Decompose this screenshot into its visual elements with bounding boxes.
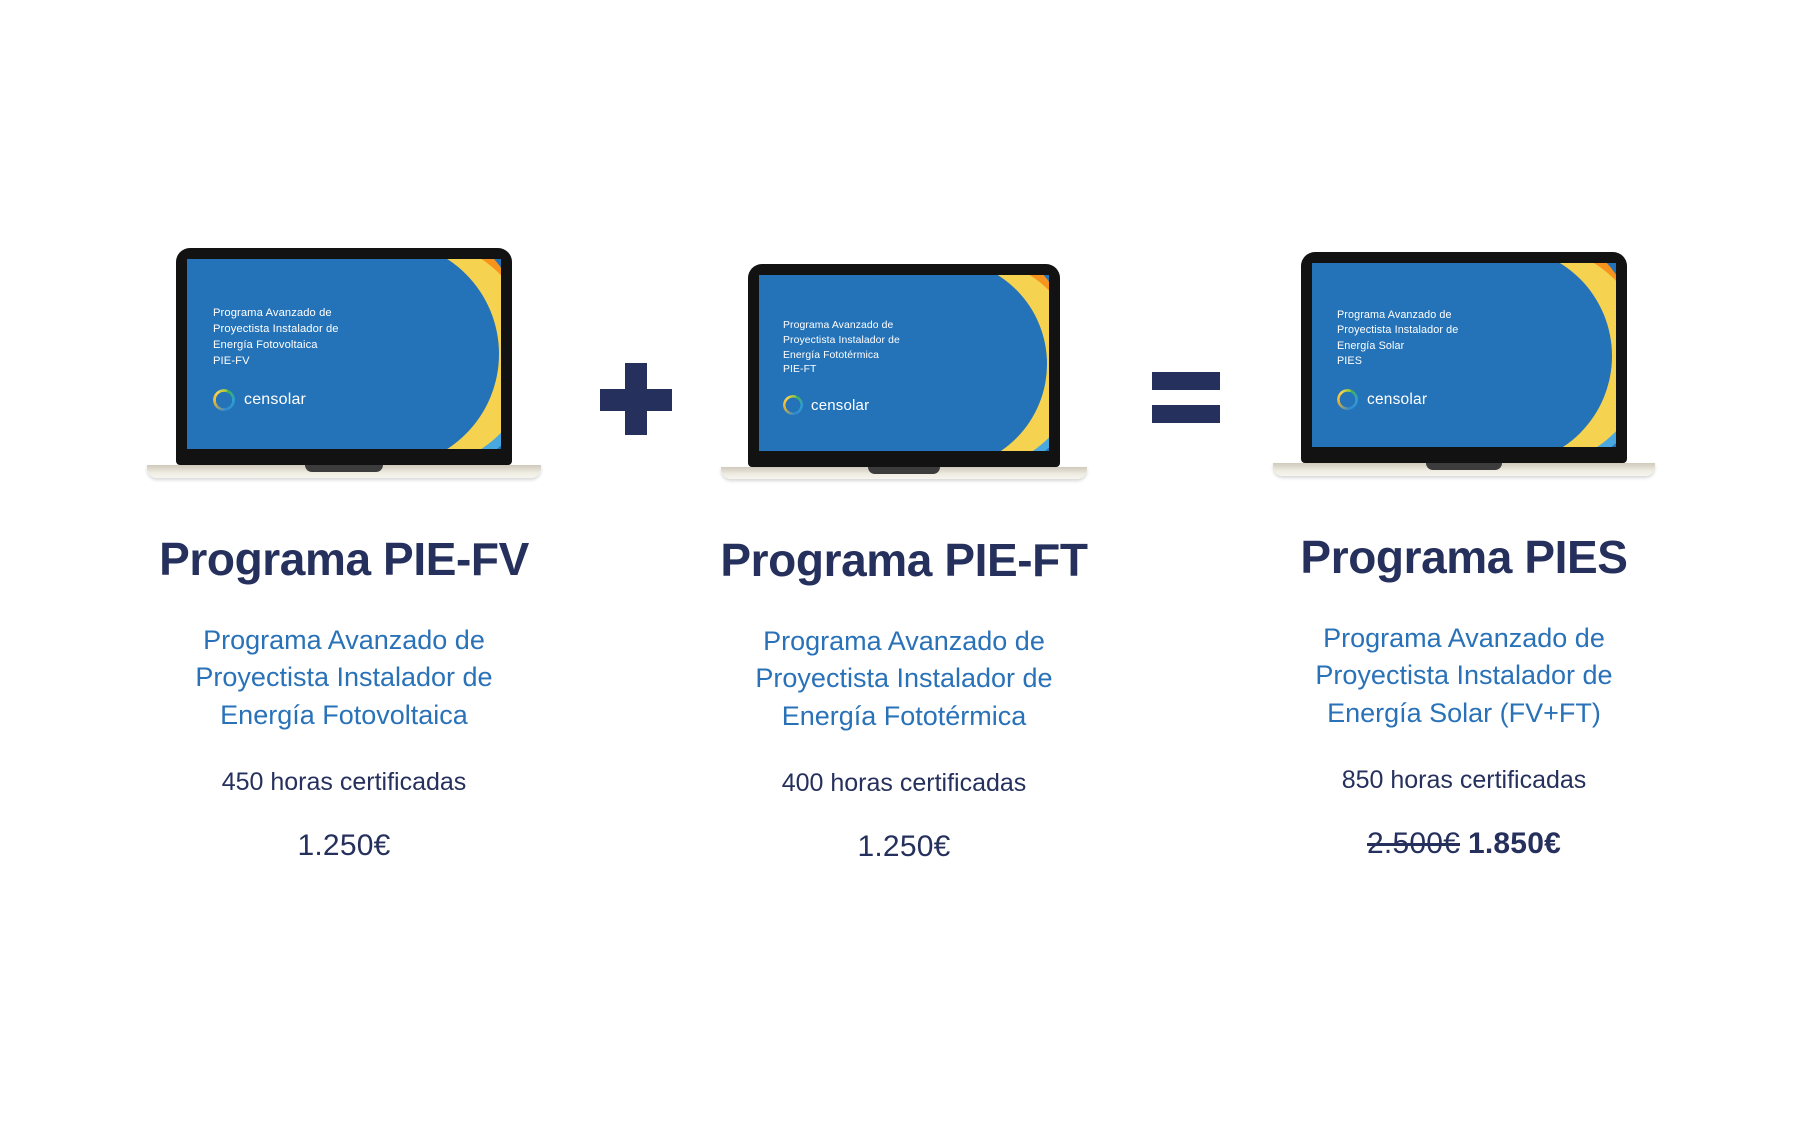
- program-column-pie-fv: Programa Avanzado de Proyectista Instala…: [64, 0, 624, 863]
- slide-brand-1: censolar: [213, 389, 306, 411]
- equals-bottom-bar: [1152, 405, 1220, 423]
- price-value: 1.850€: [1468, 827, 1561, 860]
- program-subtitle: Programa Avanzado de Proyectista Instala…: [195, 622, 492, 734]
- plus-operator-icon: [600, 363, 672, 435]
- censolar-ring-icon: [213, 389, 235, 411]
- program-price: 1.250€: [858, 830, 951, 864]
- program-hours: 400 horas certificadas: [782, 769, 1027, 798]
- laptop-base: [721, 467, 1087, 479]
- slide-brand-3: censolar: [1337, 389, 1427, 410]
- program-hours: 450 horas certificadas: [222, 768, 467, 797]
- program-price: 1.250€: [298, 829, 391, 863]
- plus-vertical-bar: [625, 363, 647, 435]
- laptop-screen: Programa Avanzado de Proyectista Instala…: [759, 275, 1049, 451]
- laptop-base: [147, 465, 541, 478]
- program-price: 2.500€1.850€: [1367, 827, 1561, 861]
- censolar-ring-icon: [783, 395, 803, 415]
- laptop-base-notch: [1426, 463, 1502, 470]
- slide-heading-3: Programa Avanzado de Proyectista Instala…: [1337, 308, 1521, 369]
- program-subtitle: Programa Avanzado de Proyectista Instala…: [1315, 620, 1612, 732]
- program-column-pies: Programa Avanzado de Proyectista Instala…: [1184, 0, 1744, 861]
- brand-name: censolar: [1367, 391, 1427, 409]
- program-title: Programa PIES: [1300, 530, 1627, 584]
- price-value: 1.250€: [858, 830, 951, 863]
- slide-heading-2: Programa Avanzado de Proyectista Instala…: [783, 319, 959, 378]
- price-value: 1.250€: [298, 829, 391, 862]
- laptop-base-notch: [305, 465, 383, 472]
- brand-name: censolar: [811, 397, 869, 414]
- brand-name: censolar: [244, 391, 306, 409]
- price-old-value: 2.500€: [1367, 827, 1460, 860]
- laptop-lid: Programa Avanzado de Proyectista Instala…: [176, 248, 512, 465]
- slide-brand-2: censolar: [783, 395, 869, 415]
- censolar-ring-icon: [1337, 389, 1358, 410]
- program-hours: 850 horas certificadas: [1342, 766, 1587, 795]
- equals-operator-icon: [1152, 372, 1220, 424]
- equals-top-bar: [1152, 372, 1220, 390]
- laptop-mockup-1: Programa Avanzado de Proyectista Instala…: [176, 248, 512, 478]
- laptop-base-notch: [868, 467, 940, 474]
- program-column-pie-ft: Programa Avanzado de Proyectista Instala…: [624, 0, 1184, 864]
- laptop-mockup-2: Programa Avanzado de Proyectista Instala…: [748, 264, 1060, 479]
- program-columns: Programa Avanzado de Proyectista Instala…: [0, 0, 1808, 1137]
- program-subtitle: Programa Avanzado de Proyectista Instala…: [755, 623, 1052, 735]
- program-title: Programa PIE-FT: [720, 533, 1087, 587]
- laptop-lid: Programa Avanzado de Proyectista Instala…: [1301, 252, 1627, 463]
- laptop-screen: Programa Avanzado de Proyectista Instala…: [1312, 263, 1616, 447]
- laptop-base: [1273, 463, 1655, 476]
- program-title: Programa PIE-FV: [159, 532, 529, 586]
- laptop-screen: Programa Avanzado de Proyectista Instala…: [187, 259, 501, 449]
- laptop-lid: Programa Avanzado de Proyectista Instala…: [748, 264, 1060, 467]
- comparison-graphic: Programa Avanzado de Proyectista Instala…: [0, 0, 1808, 1137]
- slide-heading-1: Programa Avanzado de Proyectista Instala…: [213, 306, 403, 370]
- laptop-mockup-3: Programa Avanzado de Proyectista Instala…: [1301, 252, 1627, 476]
